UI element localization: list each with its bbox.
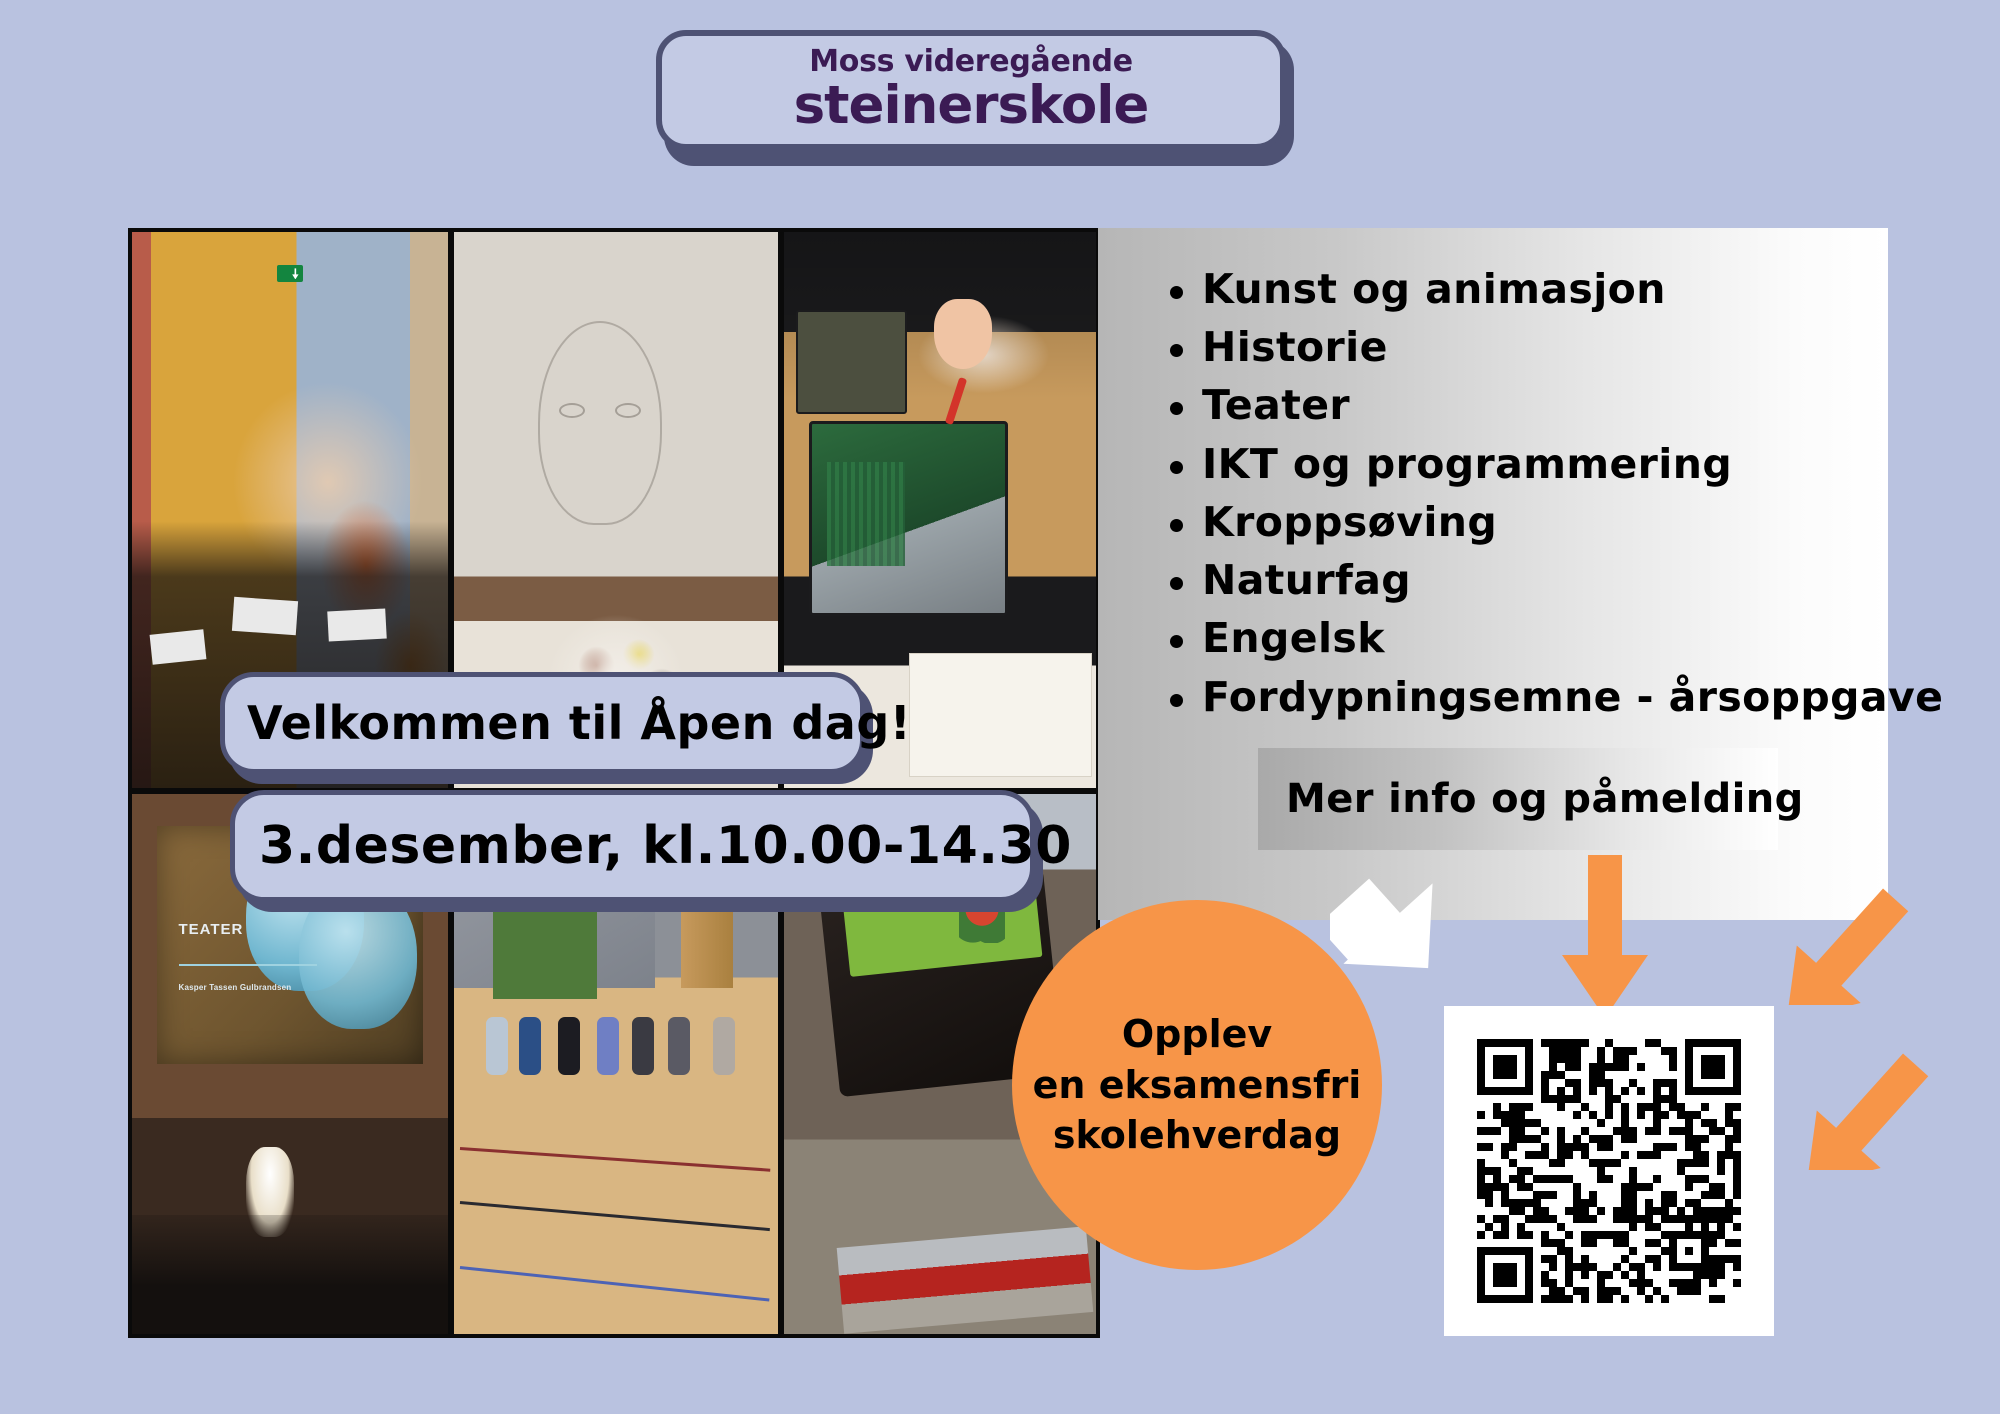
- opplev-line-2: en eksamensfri: [1033, 1060, 1362, 1111]
- theater-slide-title: TEATER: [179, 921, 244, 938]
- arrow-orange-down-icon: [1560, 855, 1650, 1020]
- face-sketch: [538, 321, 662, 525]
- laptop-motherboard: [809, 421, 1008, 616]
- theater-slide-rule: [179, 964, 317, 966]
- welcome-bubble-text: Velkommen til Åpen dag!: [247, 696, 911, 750]
- opplev-badge: Opplev en eksamensfri skolehverdag: [1012, 900, 1382, 1270]
- runner: [486, 1017, 508, 1075]
- opplev-line-1: Opplev: [1122, 1009, 1272, 1060]
- arrow-orange-down-left-lower-icon: [1770, 1010, 1950, 1170]
- arrow-orange-down-left-upper-icon: [1750, 845, 1930, 1005]
- runner: [597, 1017, 619, 1075]
- qr-code-card[interactable]: [1444, 1006, 1774, 1336]
- welcome-bubble: Velkommen til Åpen dag!: [220, 672, 865, 774]
- runner: [558, 1017, 580, 1075]
- theater-slide-subtitle: Kasper Tassen Gulbrandsen: [179, 983, 292, 992]
- logo-badge: Moss videregående steinerskole: [656, 30, 1286, 150]
- subject-item: Engelsk: [1202, 609, 1943, 667]
- logo-line-1: Moss videregående: [809, 46, 1133, 78]
- mer-info-label: Mer info og påmelding: [1258, 776, 1804, 822]
- runner: [668, 1017, 690, 1075]
- runner: [632, 1017, 654, 1075]
- music-stand: [327, 609, 386, 642]
- subject-list: Kunst og animasjon Historie Teater IKT o…: [1158, 260, 1943, 726]
- audience-silhouette: [132, 1215, 448, 1334]
- exit-sign-icon: [277, 265, 303, 282]
- sketch-paper: [909, 653, 1092, 777]
- subject-item: Naturfag: [1202, 551, 1943, 609]
- logo-line-2: steinerskole: [794, 78, 1149, 134]
- hand: [934, 299, 992, 369]
- music-stand: [232, 597, 298, 635]
- music-stand: [150, 630, 207, 665]
- date-bubble: 3.desember, kl.10.00-14.30: [230, 790, 1035, 902]
- subject-item: Fordypningsemne - årsoppgave: [1202, 668, 1943, 726]
- date-bubble-text: 3.desember, kl.10.00-14.30: [259, 816, 1072, 876]
- poster-root: Moss videregående steinerskole: [0, 0, 2000, 1414]
- runner: [713, 1017, 735, 1075]
- laptop-battery: [796, 310, 906, 414]
- mer-info-box: Mer info og påmelding: [1258, 748, 1778, 850]
- arrow-white-down-right-icon: [1330, 870, 1500, 990]
- subject-item: Kroppsøving: [1202, 493, 1943, 551]
- subject-item: Historie: [1202, 318, 1943, 376]
- subject-item: Kunst og animasjon: [1202, 260, 1943, 318]
- runner: [519, 1017, 541, 1075]
- qr-code-icon[interactable]: [1477, 1039, 1741, 1303]
- subject-item: Teater: [1202, 376, 1943, 434]
- opplev-line-3: skolehverdag: [1053, 1110, 1341, 1161]
- green-mat: [493, 902, 597, 999]
- subject-item: IKT og programmering: [1202, 435, 1943, 493]
